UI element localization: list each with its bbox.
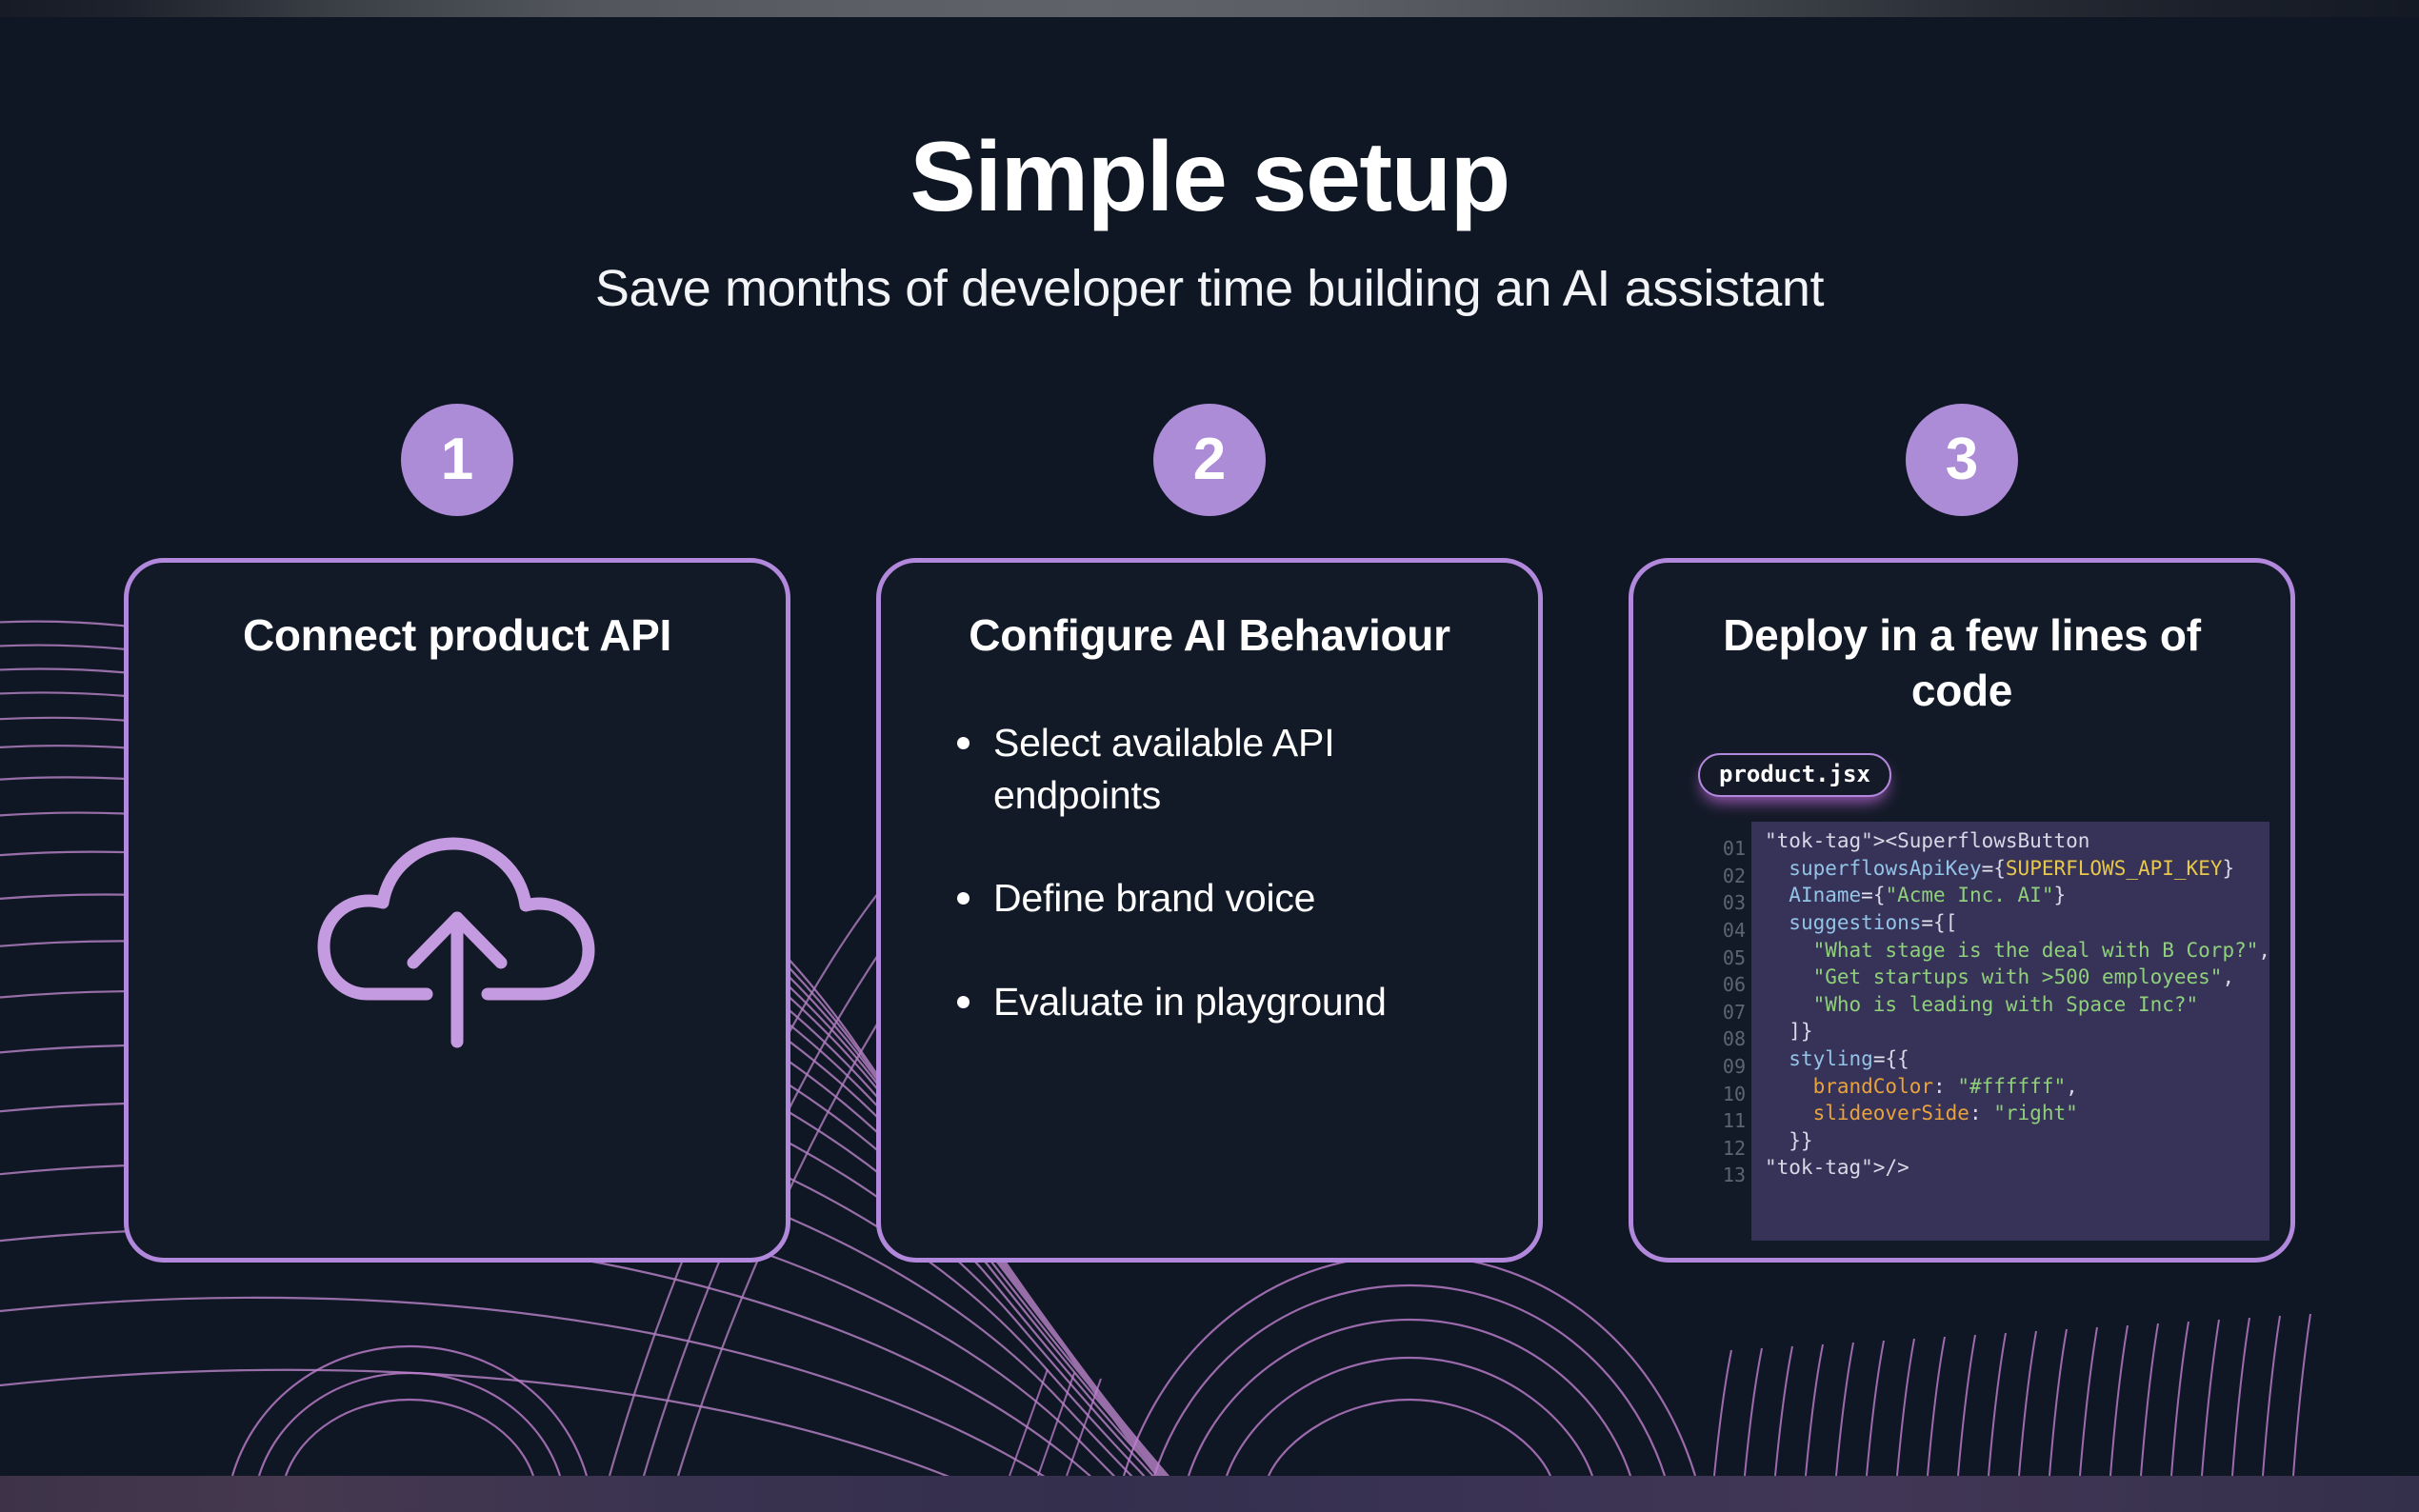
step-card-2[interactable]: Configure AI Behaviour Select available …: [876, 558, 1543, 1263]
step-column-1: 1 Connect product API: [124, 404, 790, 1263]
line-number: 10: [1698, 1081, 1751, 1108]
step-number-badge-3: 3: [1906, 404, 2018, 516]
page-canvas: Simple setup Save months of developer ti…: [0, 17, 2419, 1476]
step-number-badge-2: 2: [1153, 404, 1266, 516]
section-header: Simple setup Save months of developer ti…: [0, 17, 2419, 318]
code-panel[interactable]: "tok-tag"><SuperflowsButton superflowsAp…: [1751, 822, 2269, 1241]
line-number: 09: [1698, 1053, 1751, 1081]
line-number: 12: [1698, 1135, 1751, 1163]
step-card-title-1: Connect product API: [243, 608, 671, 664]
line-number: 06: [1698, 971, 1751, 999]
cloud-upload-icon-wrap: [167, 664, 748, 1220]
list-item: Select available API endpoints: [953, 717, 1500, 821]
step-number-badge-1: 1: [401, 404, 513, 516]
step-card-title-3: Deploy in a few lines of code: [1671, 608, 2252, 719]
step-column-3: 3 Deploy in a few lines of code product.…: [1629, 404, 2295, 1263]
list-item: Define brand voice: [953, 872, 1500, 925]
list-item: Evaluate in playground: [953, 976, 1500, 1028]
code-area: product.jsx 01 02 03 04 05 06 07 08 09: [1671, 753, 2252, 1241]
line-number-gutter: 01 02 03 04 05 06 07 08 09 10 11 12: [1698, 822, 1751, 1241]
code-block: "tok-tag"><SuperflowsButton superflowsAp…: [1765, 827, 2260, 1182]
file-tab-product-jsx[interactable]: product.jsx: [1698, 753, 1891, 797]
page-title: Simple setup: [0, 124, 2419, 230]
line-number: 02: [1698, 863, 1751, 890]
line-number: 03: [1698, 889, 1751, 917]
next-section-band: [0, 1476, 2419, 1512]
cloud-upload-icon: [314, 823, 600, 1061]
line-number: 01: [1698, 835, 1751, 863]
line-number: 11: [1698, 1107, 1751, 1135]
page-subtitle: Save months of developer time building a…: [0, 259, 2419, 318]
line-number: 05: [1698, 945, 1751, 972]
step-card-title-2: Configure AI Behaviour: [969, 608, 1449, 664]
line-number: 07: [1698, 999, 1751, 1026]
top-gradient-strip: [0, 0, 2419, 17]
step-column-2: 2 Configure AI Behaviour Select availabl…: [876, 404, 1543, 1263]
code-editor: 01 02 03 04 05 06 07 08 09 10 11 12: [1698, 822, 2269, 1241]
step-card-3[interactable]: Deploy in a few lines of code product.js…: [1629, 558, 2295, 1263]
behaviour-bullet-list: Select available API endpoints Define br…: [919, 717, 1500, 1079]
steps-row: 1 Connect product API 2 Config: [124, 404, 2295, 1263]
line-number: 13: [1698, 1162, 1751, 1189]
line-number: 04: [1698, 917, 1751, 945]
line-number: 08: [1698, 1025, 1751, 1053]
step-card-1[interactable]: Connect product API: [124, 558, 790, 1263]
